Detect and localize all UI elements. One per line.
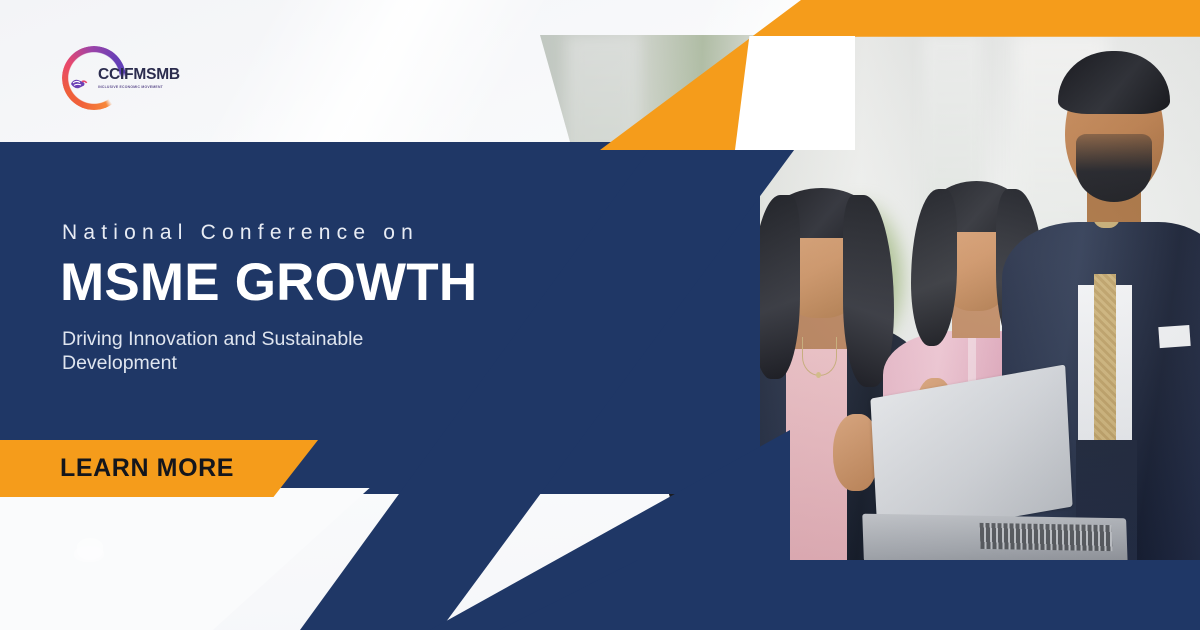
eyebrow-text: National Conference on (62, 222, 419, 243)
subheadline-text: Driving Innovation and Sustainable Devel… (62, 327, 462, 376)
handshake-icon (69, 72, 91, 94)
logo-tagline: INCLUSIVE ECONOMIC MOVEMENT (98, 85, 182, 89)
brand-logo[interactable]: CCIFMSMB INCLUSIVE ECONOMIC MOVEMENT (62, 46, 180, 110)
laptop-device (863, 381, 1127, 565)
logo-wordmark: CCIFMSMB (98, 67, 182, 83)
promo-banner: CCIFMSMB INCLUSIVE ECONOMIC MOVEMENT Nat… (0, 0, 1200, 630)
learn-more-button[interactable]: LEARN MORE (0, 440, 318, 497)
cloud-watermark-icon (74, 534, 106, 566)
learn-more-label: LEARN MORE (60, 454, 234, 483)
page-title: MSME GROWTH (60, 255, 477, 311)
orange-chevron-notch (735, 36, 855, 150)
